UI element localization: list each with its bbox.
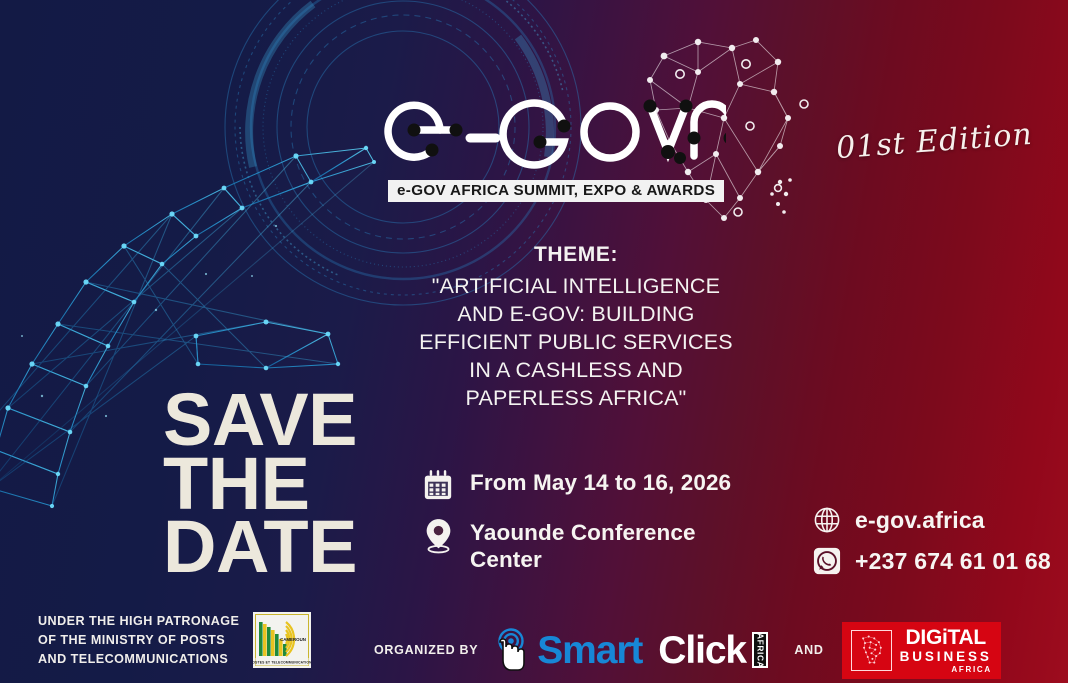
save-the-date-poster: e-GOV AFRICA SUMMIT, EXPO & AWARDS 01st …: [0, 0, 1068, 683]
ministry-country-label: CAMEROUN: [280, 637, 306, 642]
click-word: Click: [658, 631, 746, 670]
organizers-block: ORGANIZED BY Smart Click AFRICA AND: [374, 622, 1001, 679]
smart-click-africa-badge: AFRICA: [752, 632, 768, 668]
smart-click-africa-logo[interactable]: Smart Click AFRICA: [490, 628, 768, 672]
dba-line-1: DIGiTAL: [906, 627, 986, 648]
event-date-text: From May 14 to 16, 2026: [470, 466, 731, 497]
theme-line-1: "ARTIFICIAL INTELLIGENCE: [398, 273, 754, 301]
whatsapp-icon: [812, 546, 842, 576]
dba-line-2: BUSINESS: [900, 650, 992, 664]
digital-business-africa-logo[interactable]: DIGiTAL BUSINESS AFRICA: [842, 622, 1001, 679]
smart-word: Smart: [537, 631, 642, 670]
theme-line-5: PAPERLESS AFRICA": [398, 385, 754, 413]
cameroon-ministry-logo: CAMEROUN POSTES ET TELECOMMUNICATIONS: [253, 612, 311, 668]
patronage-line-1: UNDER THE HIGH PATRONAGE: [38, 612, 239, 631]
patronage-line-2: OF THE MINISTRY OF POSTS: [38, 631, 239, 650]
globe-icon: [812, 505, 842, 535]
whatsapp-row[interactable]: +237 674 61 01 68: [812, 546, 1051, 576]
contact-block: e-gov.africa +237 674 61 01 68: [812, 505, 1051, 587]
event-info-list: From May 14 to 16, 2026 Yaounde Conferen…: [420, 466, 766, 585]
ministry-caption-label: POSTES ET TELECOMMUNICATIONS: [253, 661, 311, 665]
event-logo: e-GOV AFRICA SUMMIT, EXPO & AWARDS: [378, 86, 742, 202]
patronage-block: UNDER THE HIGH PATRONAGE OF THE MINISTRY…: [38, 612, 311, 669]
calendar-icon: [420, 466, 456, 504]
location-pin-icon: [420, 516, 456, 554]
theme-line-3: EFFICIENT PUBLIC SERVICES: [398, 329, 754, 357]
edition-label: 01st Edition: [835, 117, 1034, 166]
event-date-row: From May 14 to 16, 2026: [420, 466, 766, 504]
theme-line-4: IN A CASHLESS AND: [398, 357, 754, 385]
event-venue-row: Yaounde Conference Center: [420, 516, 766, 573]
event-venue-text: Yaounde Conference Center: [470, 516, 766, 573]
whatsapp-text[interactable]: +237 674 61 01 68: [855, 548, 1051, 575]
website-row[interactable]: e-gov.africa: [812, 505, 1051, 535]
dba-line-3: AFRICA: [951, 666, 991, 674]
africa-dots-icon: [851, 630, 892, 671]
theme-line-2: AND E-GOV: BUILDING: [398, 301, 754, 329]
patronage-text: UNDER THE HIGH PATRONAGE OF THE MINISTRY…: [38, 612, 239, 669]
dba-wordmark: DIGiTAL BUSINESS AFRICA: [900, 627, 992, 674]
theme-label: THEME:: [398, 243, 754, 267]
website-text[interactable]: e-gov.africa: [855, 507, 985, 534]
click-cursor-icon: [490, 628, 532, 672]
logo-tagline: e-GOV AFRICA SUMMIT, EXPO & AWARDS: [388, 180, 724, 202]
organized-by-label: ORGANIZED BY: [374, 643, 478, 657]
save-the-date-headline: SAVE THE DATE: [163, 388, 357, 579]
patronage-line-3: AND TELECOMMUNICATIONS: [38, 650, 239, 669]
egova-wordmark-icon: [378, 86, 726, 174]
and-label: AND: [794, 643, 823, 657]
theme-block: THEME: "ARTIFICIAL INTELLIGENCE AND E-GO…: [398, 243, 754, 413]
save-line-3: DATE: [163, 515, 357, 579]
